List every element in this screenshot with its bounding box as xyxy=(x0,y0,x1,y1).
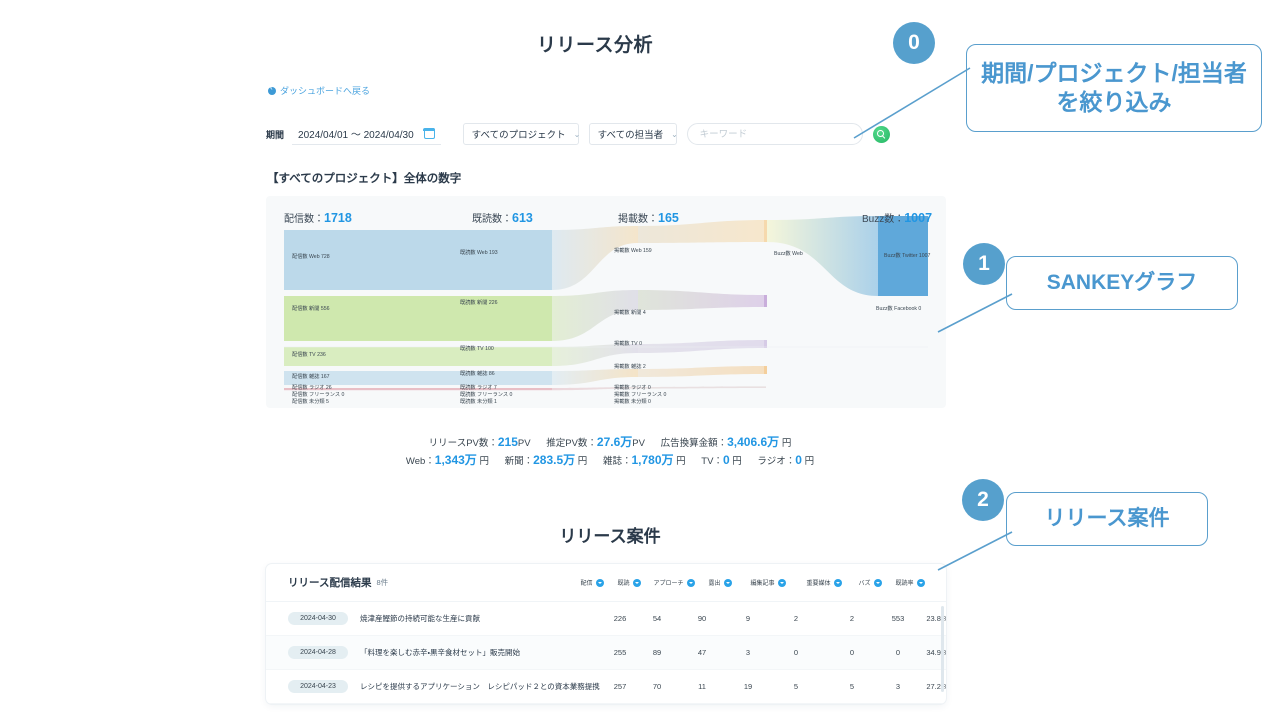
sankey-node-label: 配信数 新聞 556 xyxy=(292,306,329,314)
sankey-node-label: 配信数 Web 728 xyxy=(292,254,330,262)
table-row[interactable]: 2024-04-30 焼津産鰹節の持続可能な生産に貢献 226 54 90 9 … xyxy=(266,602,946,636)
annotation-badge-1: 1 xyxy=(963,243,1005,285)
row-cell: 255 xyxy=(602,648,638,657)
row-cell: 2 xyxy=(768,614,824,623)
row-values: 255 89 47 3 0 0 0 34.9 % xyxy=(602,648,946,657)
row-values: 226 54 90 9 2 2 553 23.8 % xyxy=(602,614,946,623)
sort-icon[interactable] xyxy=(834,579,842,587)
table-scrollbar[interactable] xyxy=(941,606,944,692)
owner-select-value: すべての担当者 xyxy=(598,127,663,141)
sankey-node-label: 掲載数 Web 159 xyxy=(614,248,652,256)
row-cell: 11 xyxy=(676,682,728,691)
period-label: 期間 xyxy=(266,128,284,141)
sankey-node-label: 既読数 雑誌 86 xyxy=(460,371,495,379)
search-input[interactable] xyxy=(687,123,863,145)
annotation-leader-0 xyxy=(840,60,1020,150)
table-count: 8件 xyxy=(376,577,388,588)
sort-icon[interactable] xyxy=(687,579,695,587)
sankey-node-label: 既読数 未分類 1 xyxy=(460,399,497,407)
owner-select[interactable]: すべての担当者 ⌄ xyxy=(589,123,677,145)
back-arrow-icon xyxy=(268,87,276,95)
sort-icon[interactable] xyxy=(874,579,882,587)
sankey-stage-keisai: 掲載数：165 xyxy=(618,210,679,225)
project-select-value: すべてのプロジェクト xyxy=(472,127,566,141)
row-cell: 90 xyxy=(676,614,728,623)
table-column-headers: 配信 既読 アプローチ 露出 編集記事 重要媒体 バズ 既読率 xyxy=(574,578,932,587)
row-cell: 0 xyxy=(824,648,880,657)
row-title: 焼津産鰹節の持続可能な生産に貢献 xyxy=(360,613,602,624)
kpi-item: TV：0 円 xyxy=(701,456,741,467)
column-header-henshukiji[interactable]: 編集記事 xyxy=(740,578,796,587)
sort-icon[interactable] xyxy=(596,579,604,587)
sort-icon[interactable] xyxy=(778,579,786,587)
annotation-leader-2 xyxy=(930,528,1040,578)
sankey-chart: 配信数：1718 既読数：613 掲載数：165 Buzz数：1007 配信数 … xyxy=(266,196,946,408)
sankey-node-label: 既読数 Web 193 xyxy=(460,250,498,258)
kpi-item: Web：1,343万 円 xyxy=(406,456,489,467)
annotation-text-0: 期間/プロジェクト/担当者 を絞り込み xyxy=(981,59,1247,117)
row-title: レシピを提供するアプリケーション レシピパッド２との資本業務提携 xyxy=(360,681,602,692)
row-cell: 19 xyxy=(728,682,768,691)
annotation-leader-1 xyxy=(930,290,1040,340)
sankey-node-label: Buzz数 Web xyxy=(774,251,803,259)
sankey-stage-buzz: Buzz数：1007 xyxy=(862,210,932,225)
chevron-down-icon: ⌄ xyxy=(671,130,678,139)
sankey-node-label: 掲載数 新聞 4 xyxy=(614,310,646,318)
sankey-stage-kidoku: 既読数：613 xyxy=(472,210,533,225)
column-header-juyobaitai[interactable]: 重要媒体 xyxy=(796,578,852,587)
overview-heading: 【すべてのプロジェクト】全体の数字 xyxy=(267,170,461,186)
project-select[interactable]: すべてのプロジェクト ⌄ xyxy=(463,123,579,145)
row-date: 2024-04-30 xyxy=(288,612,348,625)
chevron-down-icon: ⌄ xyxy=(574,130,581,139)
annotation-text-1: SANKEYグラフ xyxy=(1047,270,1198,296)
table-header: リリース配信結果 8件 配信 既読 アプローチ 露出 編集記事 重要媒体 バズ … xyxy=(266,564,946,602)
row-cell: 47 xyxy=(676,648,728,657)
kpi-item: 新聞：283.5万 円 xyxy=(505,456,588,467)
sankey-node-label: 掲載数 TV 0 xyxy=(614,341,642,349)
row-cell: 9 xyxy=(728,614,768,623)
sankey-node-label: 既読数 新聞 226 xyxy=(460,300,497,308)
kpi-item: 雑誌：1,780万 円 xyxy=(603,456,686,467)
table-row[interactable]: 2024-04-23 レシピを提供するアプリケーション レシピパッド２との資本業… xyxy=(266,670,946,704)
row-date: 2024-04-23 xyxy=(288,680,348,693)
sankey-svg xyxy=(266,196,946,408)
table-title: リリース配信結果 xyxy=(288,575,371,590)
column-header-roshutsu[interactable]: 露出 xyxy=(700,578,740,587)
annotation-badge-0: 0 xyxy=(893,22,935,64)
annotation-badge-2: 2 xyxy=(962,479,1004,521)
annotation-box-1: SANKEYグラフ xyxy=(1006,256,1238,310)
row-cell: 3 xyxy=(728,648,768,657)
row-date: 2024-04-28 xyxy=(288,646,348,659)
annotation-text-2: リリース案件 xyxy=(1045,506,1170,532)
column-header-kidoku[interactable]: 既読 xyxy=(610,578,648,587)
date-range-value: 2024/04/01 ～ 2024/04/30 xyxy=(298,126,414,141)
sort-icon[interactable] xyxy=(724,579,732,587)
row-cell: 553 xyxy=(880,614,916,623)
column-header-approach[interactable]: アプローチ xyxy=(648,578,700,587)
row-cell: 2 xyxy=(824,614,880,623)
row-cell: 257 xyxy=(602,682,638,691)
table-row[interactable]: 2024-04-28 「料理を楽しむ赤辛・黒辛食材セット」販売開始 255 89… xyxy=(266,636,946,670)
column-header-kidokuritsu[interactable]: 既読率 xyxy=(888,578,932,587)
sankey-node-label: 掲載数 未分類 0 xyxy=(614,399,651,407)
filter-bar: 期間 2024/04/01 ～ 2024/04/30 すべてのプロジェクト ⌄ … xyxy=(266,122,890,146)
date-range-picker[interactable]: 2024/04/01 ～ 2024/04/30 xyxy=(292,123,441,145)
sort-icon[interactable] xyxy=(633,579,641,587)
sankey-node-label: Buzz数 Twitter 1007 xyxy=(884,253,930,261)
sankey-node-label: 既読数 TV 100 xyxy=(460,346,494,354)
row-cell: 5 xyxy=(824,682,880,691)
back-to-dashboard-link[interactable]: ダッシュボードへ戻る xyxy=(268,84,370,97)
column-header-buzz[interactable]: バズ xyxy=(852,578,888,587)
kpi-item: リリースPV数：215PV xyxy=(429,438,531,449)
page-root: リリース分析 ダッシュボードへ戻る 期間 2024/04/01 ～ 2024/0… xyxy=(0,0,1280,720)
sankey-node-label: 配信数 雑誌 167 xyxy=(292,374,329,382)
row-cell: 54 xyxy=(638,614,676,623)
releases-table: リリース配信結果 8件 配信 既読 アプローチ 露出 編集記事 重要媒体 バズ … xyxy=(266,564,946,704)
sankey-stage-haishin: 配信数：1718 xyxy=(284,210,352,225)
back-link-label: ダッシュボードへ戻る xyxy=(280,84,370,97)
kpi-item: 推定PV数：27.6万PV xyxy=(546,438,645,449)
sankey-node-label: 配信数 TV 236 xyxy=(292,352,326,360)
sankey-node-label: 掲載数 雑誌 2 xyxy=(614,364,646,372)
calendar-icon[interactable] xyxy=(424,128,435,139)
row-cell: 0 xyxy=(880,648,916,657)
kpi-item: 広告換算金額：3,406.6万 円 xyxy=(661,438,792,449)
row-values: 257 70 11 19 5 5 3 27.2 % xyxy=(602,682,946,691)
row-cell: 89 xyxy=(638,648,676,657)
row-title: 「料理を楽しむ赤辛・黒辛食材セット」販売開始 xyxy=(360,647,602,658)
kpi-item: ラジオ：0 円 xyxy=(757,456,814,467)
row-cell: 226 xyxy=(602,614,638,623)
sankey-node-label: Buzz数 Facebook 0 xyxy=(876,306,921,314)
row-cell: 3 xyxy=(880,682,916,691)
sort-icon[interactable] xyxy=(917,579,925,587)
column-header-haishin[interactable]: 配信 xyxy=(574,578,610,587)
row-cell: 0 xyxy=(768,648,824,657)
kpi-row-breakdown: Web：1,343万 円 新聞：283.5万 円 雑誌：1,780万 円 TV：… xyxy=(0,450,1220,471)
row-cell: 5 xyxy=(768,682,824,691)
row-cell: 70 xyxy=(638,682,676,691)
sankey-node-label: 配信数 未分類 5 xyxy=(292,399,329,407)
